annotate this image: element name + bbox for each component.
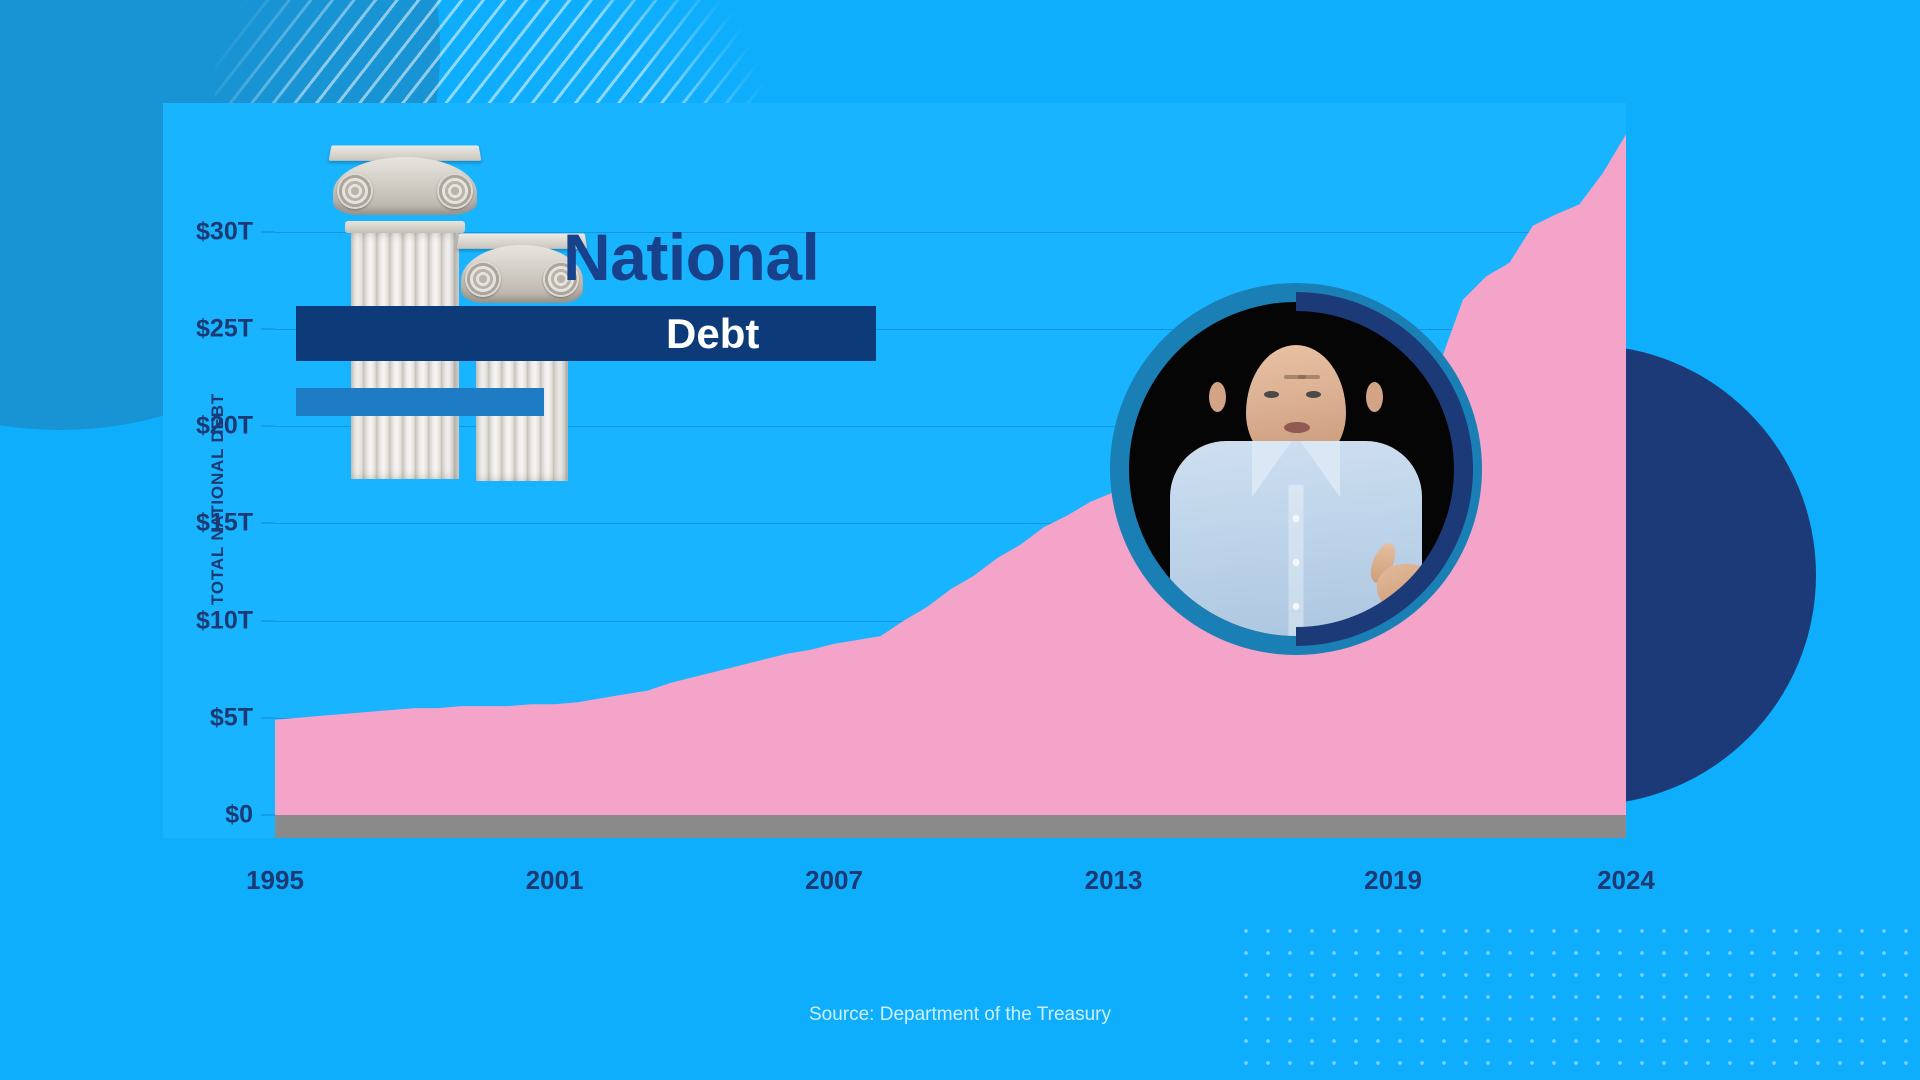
portrait-ear-right [1366, 382, 1383, 412]
baseline-bar [275, 815, 1626, 838]
source-note: Source: Department of the Treasury [0, 1004, 1920, 1026]
y-axis-tick-mark [261, 426, 275, 427]
title-line-one: National [563, 224, 819, 290]
dot-grid-decoration [1235, 920, 1920, 1070]
portrait-shirt-button [1293, 603, 1300, 610]
column-capital [330, 145, 480, 221]
portrait-ear-left [1209, 382, 1226, 412]
y-axis-tick-mark [261, 620, 275, 621]
y-axis-tick-mark [261, 523, 275, 524]
x-axis-tick-label: 2001 [526, 865, 584, 896]
portrait-collar-left [1252, 441, 1292, 497]
y-axis-tick-mark [261, 231, 275, 232]
portrait-collar-right [1300, 441, 1340, 497]
y-axis-tick-label: $25T [123, 314, 253, 343]
y-axis-tick-label: $0 [123, 801, 253, 830]
infographic-stage: TOTAL NATIONAL DEBT $30T$25T$20T$15T$10T… [0, 0, 1920, 1080]
x-axis-tick-label: 2024 [1597, 865, 1655, 896]
y-axis-tick-label: $20T [123, 412, 253, 441]
speaker-portrait [1110, 283, 1482, 655]
portrait-shirt [1170, 441, 1422, 636]
x-axis-tick-label: 1995 [246, 865, 304, 896]
portrait-hand [1377, 564, 1439, 614]
y-axis-tick-label: $5T [123, 703, 253, 732]
y-axis-tick-label: $10T [123, 606, 253, 635]
portrait-eye-left [1264, 391, 1279, 398]
column-pedestal [296, 388, 544, 416]
y-axis-tick-mark [261, 815, 275, 816]
title-banner [296, 306, 876, 361]
y-axis-tick-mark [261, 328, 275, 329]
y-axis-tick-label: $15T [123, 509, 253, 538]
portrait-photo [1129, 302, 1463, 636]
y-axis-tick-label: $30T [123, 217, 253, 246]
x-axis-tick-label: 2013 [1085, 865, 1143, 896]
title-line-two: Debt [666, 313, 759, 355]
portrait-eye-right [1306, 391, 1321, 398]
x-axis-tick-label: 2019 [1364, 865, 1422, 896]
portrait-brow-right [1298, 375, 1320, 379]
portrait-shirt-button [1293, 559, 1300, 566]
x-axis-tick-label: 2007 [805, 865, 863, 896]
column-neck [345, 221, 465, 233]
column-volutes [333, 157, 477, 215]
y-axis-tick-mark [261, 717, 275, 718]
portrait-shirt-button [1293, 515, 1300, 522]
